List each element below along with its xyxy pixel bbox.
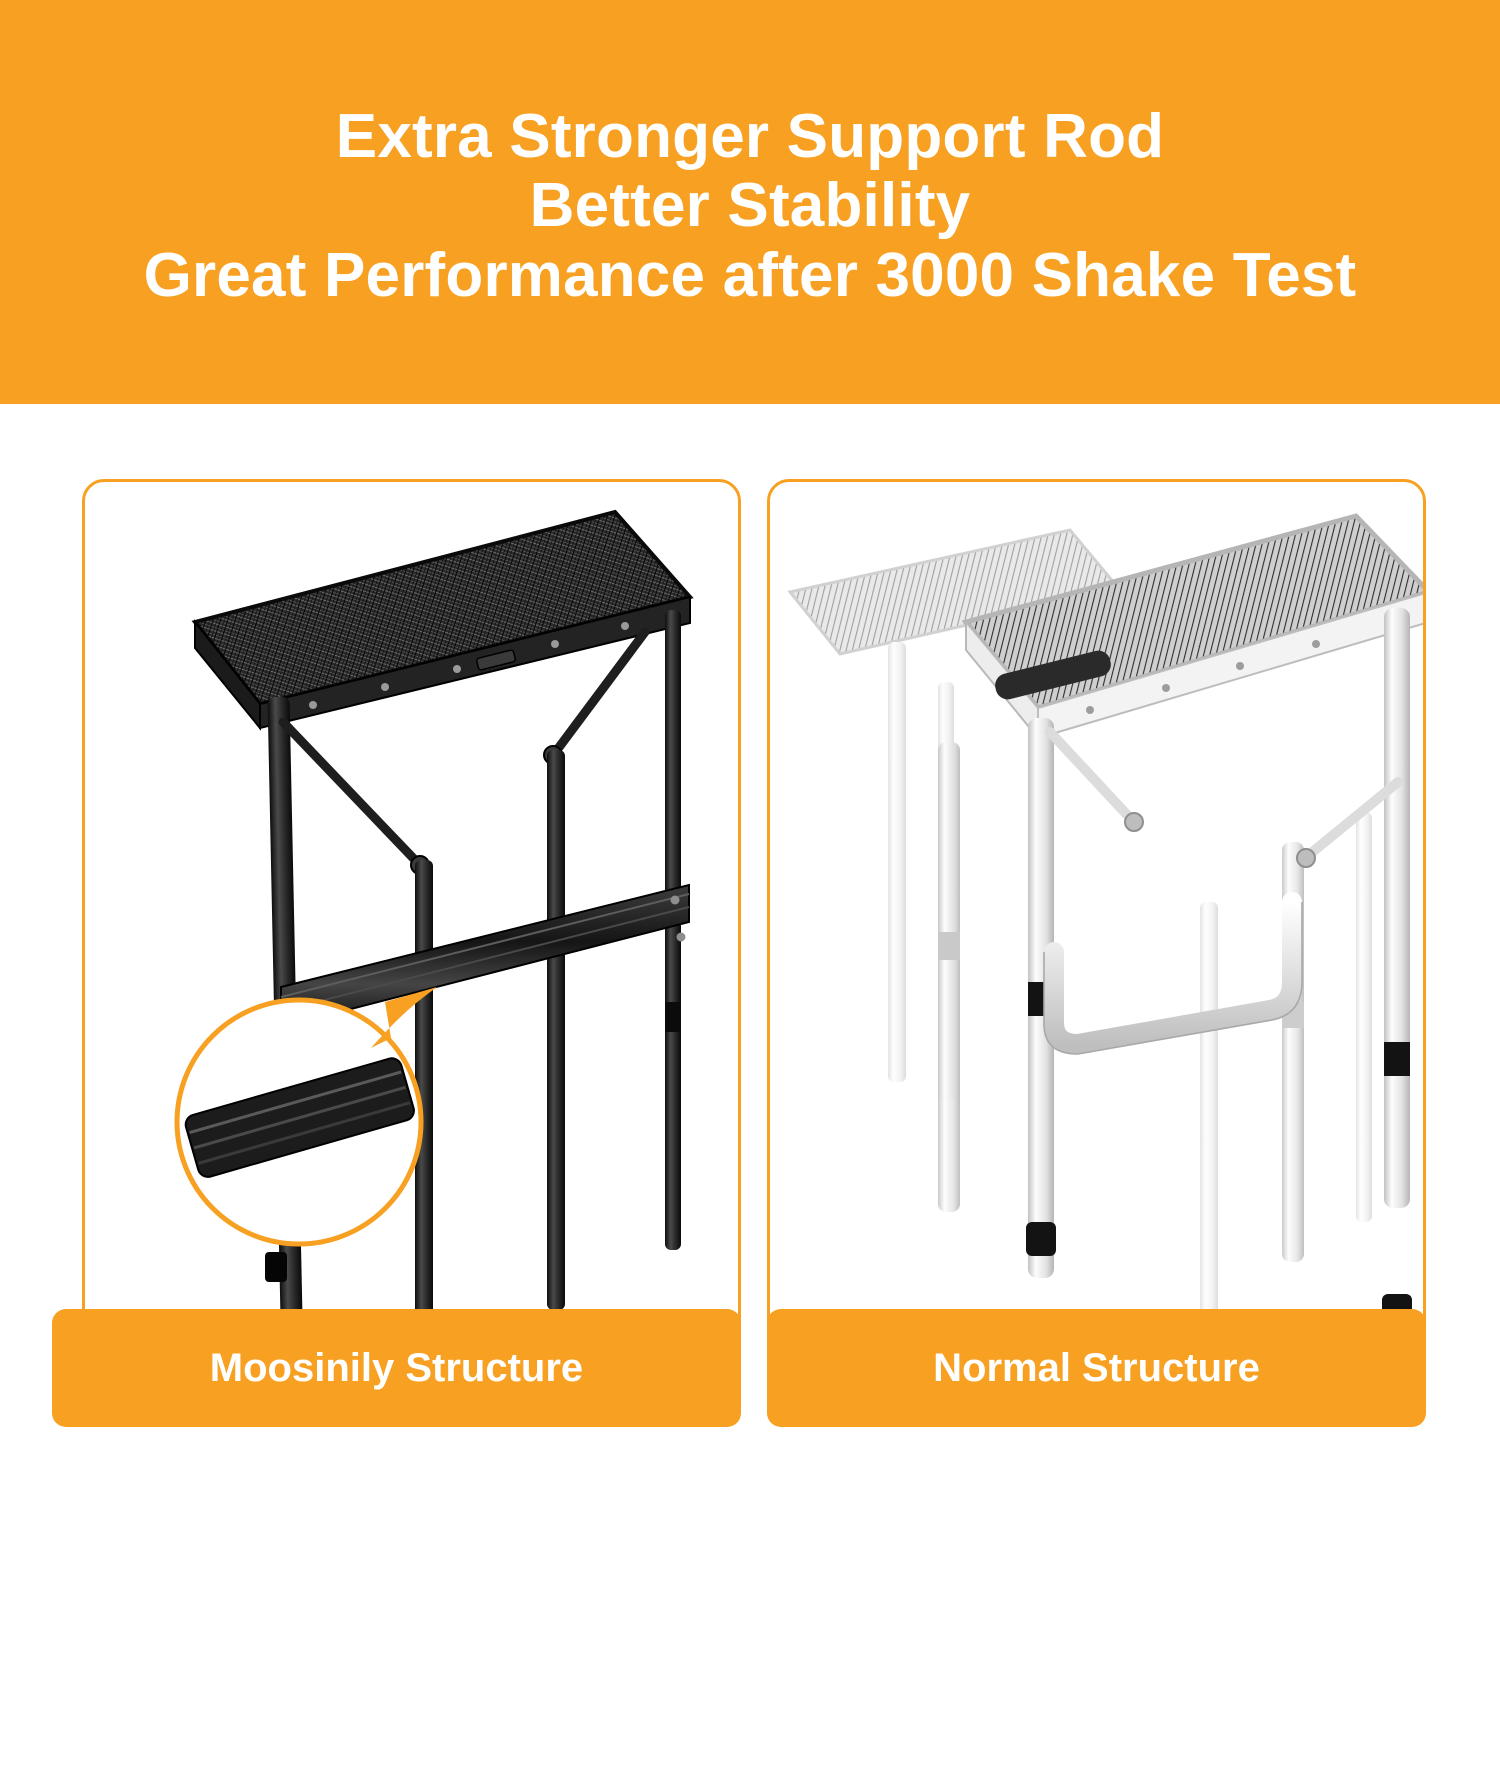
header-banner: Extra Stronger Support Rod Better Stabil… [0, 0, 1500, 404]
panel-normal: Normal Structure [767, 479, 1426, 1784]
product-image-normal [770, 482, 1423, 1346]
banner-headline-2: Better Stability [530, 171, 971, 240]
support-rod-callout [177, 987, 437, 1244]
table-leg-back [665, 610, 681, 1250]
banner-headline-1: Extra Stronger Support Rod [336, 102, 1164, 171]
panel-normal-frame [767, 479, 1426, 1349]
table-leg-inner-right [547, 750, 565, 1310]
brace-hardware [411, 746, 562, 874]
table-leg-front-right [1382, 608, 1412, 1328]
caption-normal: Normal Structure [767, 1309, 1426, 1427]
banner-headline-3: Great Performance after 3000 Shake Test [144, 241, 1357, 310]
folding-brace [1050, 732, 1398, 854]
table-leg-back-left [938, 742, 960, 1212]
tabletop-mesh [195, 512, 690, 728]
product-image-moosinily [85, 482, 738, 1346]
panel-moosinily: Moosinily Structure [82, 479, 741, 1784]
comparison-panels: Moosinily Structure [0, 404, 1500, 1428]
caption-moosinily: Moosinily Structure [52, 1309, 741, 1427]
panel-moosinily-frame [82, 479, 741, 1349]
